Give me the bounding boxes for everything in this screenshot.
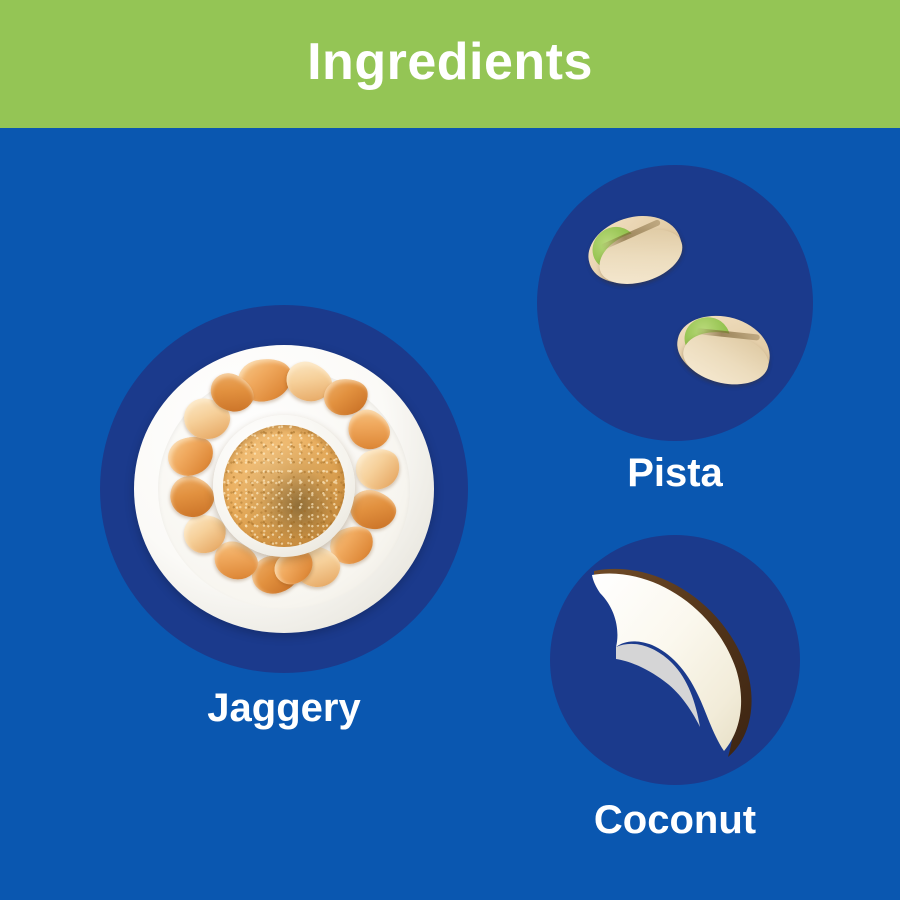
ingredient-label-pista: Pista	[507, 453, 843, 493]
coconut-slice-shape	[586, 561, 764, 759]
ingredients-poster: Ingredients	[0, 0, 900, 900]
pista-image-disc	[537, 165, 813, 441]
ingredient-card-pista: Pista	[537, 165, 813, 441]
plate-icon	[134, 345, 434, 633]
bowl-icon	[213, 415, 355, 557]
coconut-slice-icon	[586, 561, 764, 759]
pistachio-icon	[670, 302, 779, 394]
jaggery-powder	[223, 425, 345, 547]
ingredient-card-coconut: Coconut	[550, 535, 800, 785]
page-title: Ingredients	[307, 36, 593, 92]
jaggery-image-disc	[100, 305, 468, 673]
ingredient-card-jaggery: Jaggery	[100, 305, 468, 673]
header-band: Ingredients	[0, 0, 900, 128]
pistachio-icon	[578, 198, 692, 298]
jaggery-powder-texture	[223, 425, 345, 547]
coconut-image-disc	[550, 535, 800, 785]
ingredient-label-coconut: Coconut	[512, 800, 838, 840]
ingredient-label-jaggery: Jaggery	[100, 688, 468, 728]
